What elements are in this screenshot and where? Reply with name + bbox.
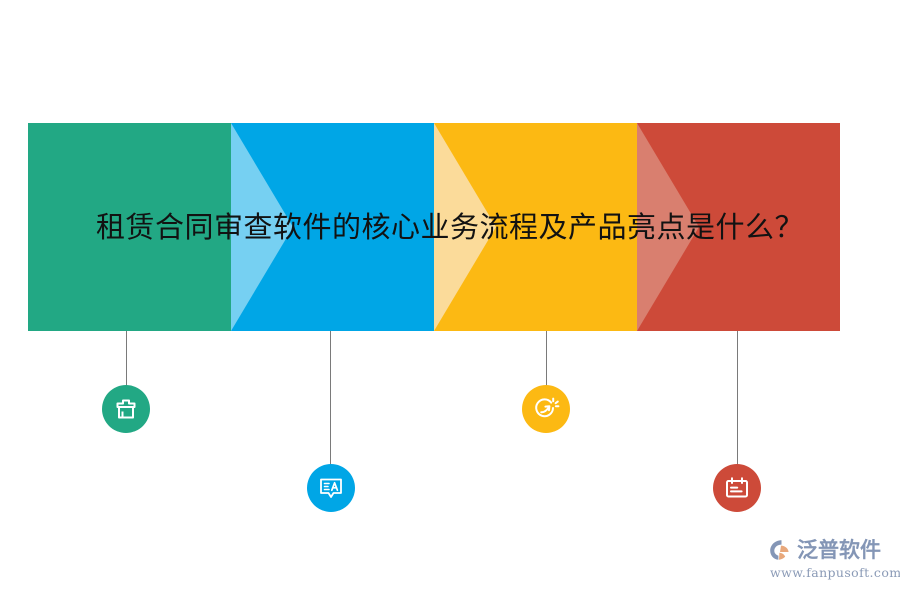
connector-line-4 xyxy=(737,331,738,469)
brand-logo-row: 泛普软件 xyxy=(768,536,892,564)
slide-canvas: 租赁合同审查软件的核心业务流程及产品亮点是什么？ xyxy=(0,0,900,600)
node-badge-growth[interactable] xyxy=(522,385,570,433)
brand-url: www.fanpusoft.com xyxy=(770,565,892,580)
growth-arrow-icon xyxy=(532,395,560,423)
node-badge-calendar[interactable] xyxy=(713,464,761,512)
connector-line-3 xyxy=(546,331,547,389)
node-badge-storefront[interactable] xyxy=(102,385,150,433)
banner-chevrons xyxy=(28,123,840,331)
process-banner xyxy=(28,123,840,331)
translate-icon xyxy=(317,474,345,502)
connector-line-2 xyxy=(330,331,331,469)
storefront-icon xyxy=(113,396,139,422)
banner-segment-1 xyxy=(28,123,231,331)
node-badge-translate[interactable] xyxy=(307,464,355,512)
fanpu-logo-mark-icon xyxy=(768,537,794,563)
calendar-board-icon xyxy=(723,474,751,502)
connector-line-1 xyxy=(126,331,127,389)
brand-logo[interactable]: 泛普软件 www.fanpusoft.com xyxy=(768,536,892,582)
brand-name: 泛普软件 xyxy=(797,537,881,563)
